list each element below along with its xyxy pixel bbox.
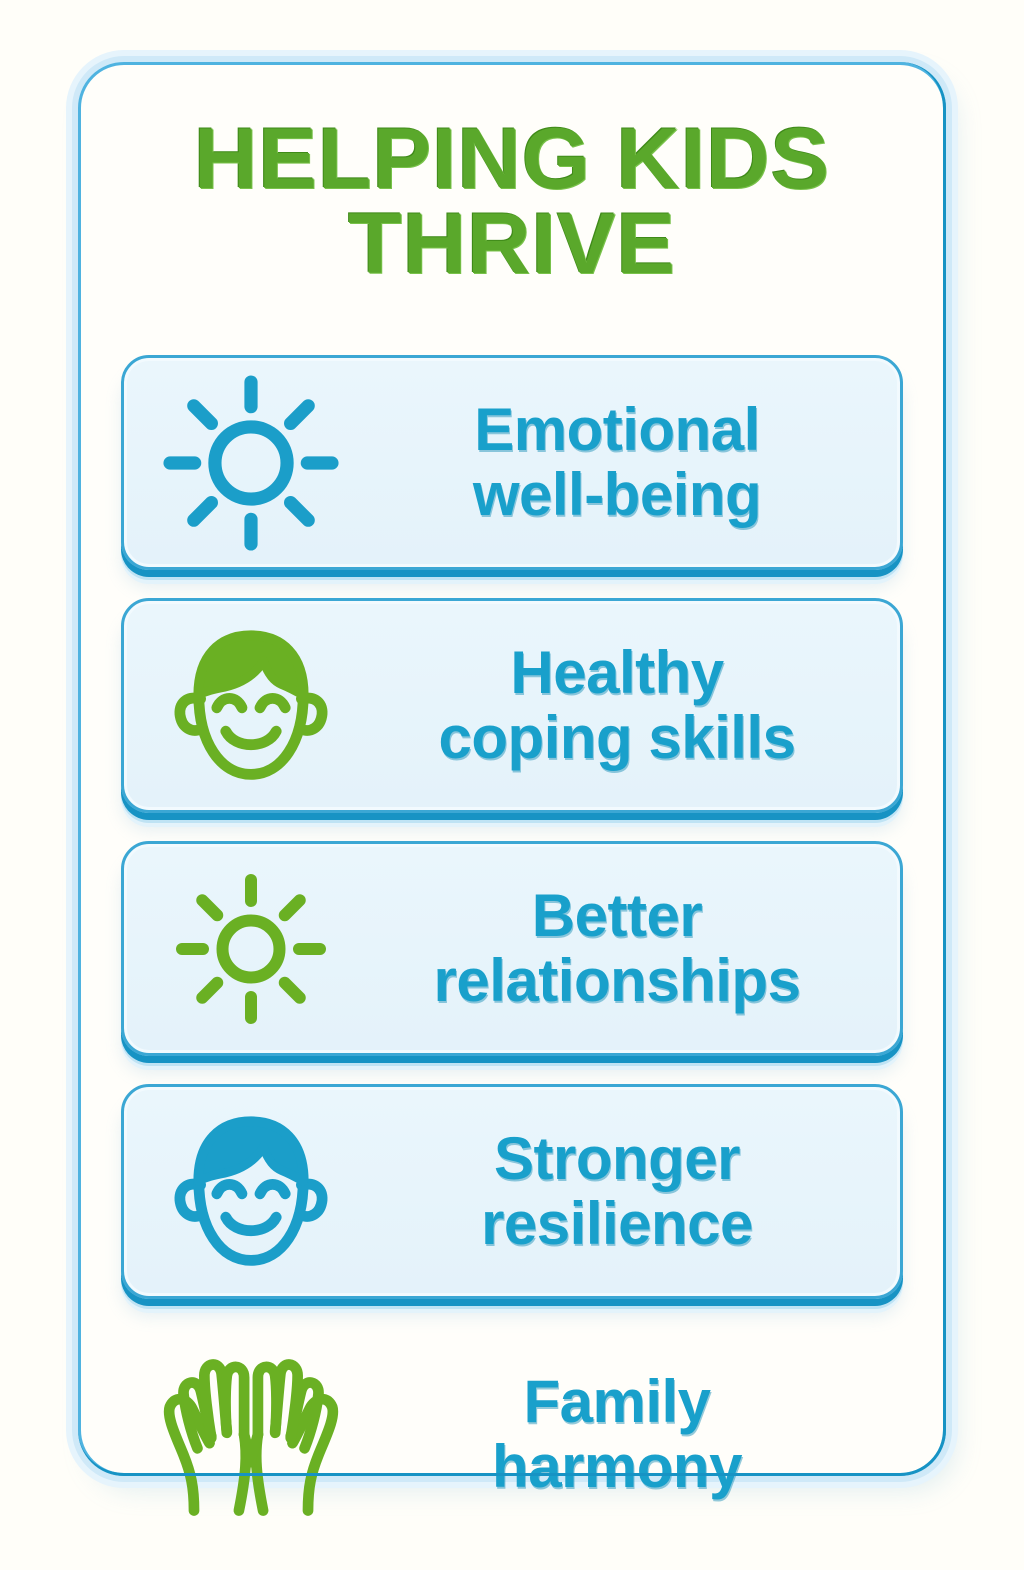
benefit-card-emotional-well-being[interactable]: Emotional well-being <box>121 355 903 570</box>
benefit-label-line-2: relationships <box>434 947 801 1014</box>
page-title: HELPING KIDS THRIVE <box>81 117 943 287</box>
benefit-label: Stronger resilience <box>356 1127 884 1255</box>
smiling-child-face-icon <box>146 616 356 796</box>
benefit-label: Healthy coping skills <box>356 641 884 769</box>
benefit-label-line-2: coping skills <box>439 704 796 771</box>
benefit-card-better-relationships[interactable]: Better relationships <box>121 841 903 1056</box>
sun-icon <box>146 373 356 553</box>
benefit-label: Better relationships <box>356 884 884 1012</box>
benefit-label-line-1: Healthy <box>510 639 723 706</box>
benefit-label-line-1: Family <box>523 1368 710 1435</box>
benefit-card-stronger-resilience[interactable]: Stronger resilience <box>121 1084 903 1299</box>
benefits-list: Emotional well-being <box>121 355 903 1570</box>
page-title-line-2: THRIVE <box>103 202 921 287</box>
benefit-label: Family harmony <box>356 1370 884 1498</box>
benefit-card-family-harmony[interactable]: Family harmony <box>121 1327 903 1542</box>
open-hands-icon <box>146 1345 356 1525</box>
sun-icon <box>146 859 356 1039</box>
page-title-line-1: HELPING KIDS <box>103 117 921 202</box>
benefit-label-line-2: harmony <box>492 1433 742 1500</box>
benefit-label-line-1: Stronger <box>494 1125 740 1192</box>
benefit-label-line-2: well-being <box>473 461 761 528</box>
benefit-label-line-1: Emotional <box>474 396 760 463</box>
benefit-label: Emotional well-being <box>356 398 884 526</box>
smiling-child-face-icon <box>146 1102 356 1282</box>
benefit-label-line-2: resilience <box>481 1190 753 1257</box>
poster-panel: HELPING KIDS THRIVE <box>78 62 946 1476</box>
benefit-label-line-1: Better <box>532 882 702 949</box>
benefit-card-healthy-coping-skills[interactable]: Healthy coping skills <box>121 598 903 813</box>
